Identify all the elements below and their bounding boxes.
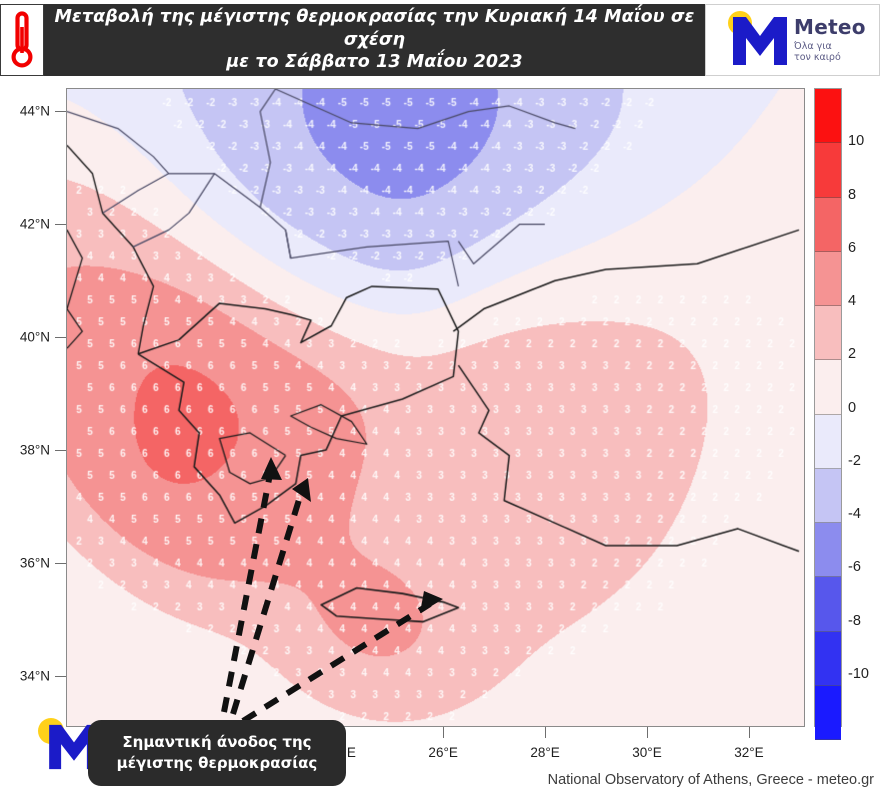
header-title-cell: Μεταβολή της μέγιστης θερμοκρασίας την Κ…: [44, 4, 705, 76]
colorbar-bin: [815, 523, 841, 577]
colorbar-bin: [815, 415, 841, 469]
latitude-tick-label: 34°N: [20, 669, 50, 684]
colorbar[interactable]: [814, 88, 842, 727]
colorbar-tick-label: 8: [848, 187, 856, 203]
meteo-wordmark: Meteo Όλα για τον καιρό: [794, 15, 866, 64]
anomaly-raster: [67, 89, 804, 726]
meteo-tagline-line2: τον καιρό: [794, 53, 866, 64]
longitude-tick-mark: [647, 727, 648, 738]
latitude-tick-mark: [55, 450, 66, 451]
latitude-tick-label: 40°N: [20, 329, 50, 344]
colorbar-bin: [815, 198, 841, 252]
meteo-tagline: Όλα για τον καιρό: [794, 42, 866, 64]
colorbar-bin: [815, 252, 841, 306]
colorbar-tick-label: -2: [848, 453, 861, 469]
latitude-tick-mark: [55, 676, 66, 677]
latitude-tick-label: 44°N: [20, 103, 50, 118]
latitude-tick-label: 36°N: [20, 556, 50, 571]
page-title: Μεταβολή της μέγιστης θερμοκρασίας την Κ…: [54, 6, 695, 73]
colorbar-tick-label: 0: [848, 400, 856, 416]
colorbar-bin: [815, 632, 841, 686]
colorbar-tick-label: 4: [848, 293, 856, 309]
longitude-tick-label: 30°E: [632, 745, 661, 760]
colorbar-tick-label: 10: [848, 133, 864, 149]
colorbar-bin: [815, 89, 841, 143]
longitude-tick-label: 26°E: [428, 745, 457, 760]
colorbar-tick-label: -8: [848, 613, 861, 629]
colorbar-bin: [815, 686, 841, 740]
meteo-name: Meteo: [794, 15, 866, 39]
header-banner: Μεταβολή της μέγιστης θερμοκρασίας την Κ…: [0, 4, 880, 76]
colorbar-bin: [815, 143, 841, 197]
latitude-tick-mark: [55, 111, 66, 112]
annotation-callout-text: Σημαντική άνοδος της μέγιστης θερμοκρασί…: [117, 732, 318, 775]
colorbar-bin: [815, 577, 841, 631]
longitude-tick-label: 32°E: [734, 745, 763, 760]
latitude-tick-label: 38°N: [20, 442, 50, 457]
meteo-m-mark: [732, 16, 788, 66]
latitude-tick-mark: [55, 224, 66, 225]
latitude-tick-label: 42°N: [20, 216, 50, 231]
longitude-tick-mark: [443, 727, 444, 738]
thermometer-icon: [11, 11, 33, 69]
temperature-anomaly-map[interactable]: [66, 88, 805, 727]
longitude-tick-mark: [749, 727, 750, 738]
colorbar-tick-label: -6: [848, 559, 861, 575]
longitude-tick-mark: [545, 727, 546, 738]
annotation-line1: Σημαντική άνοδος της: [117, 732, 318, 753]
annotation-callout: Σημαντική άνοδος της μέγιστης θερμοκρασί…: [88, 720, 346, 786]
annotation-line2: μέγιστης θερμοκρασίας: [117, 753, 318, 774]
page-title-line1: Μεταβολή της μέγιστης θερμοκρασίας την Κ…: [54, 6, 695, 51]
colorbar-bin: [815, 360, 841, 414]
colorbar-tick-label: -4: [848, 506, 861, 522]
colorbar-tick-label: 2: [848, 346, 856, 362]
colorbar-bin: [815, 469, 841, 523]
colorbar-tick-label: 6: [848, 240, 856, 256]
colorbar-bin: [815, 306, 841, 360]
thermometer-icon-cell: [0, 4, 44, 76]
longitude-tick-label: 28°E: [530, 745, 559, 760]
meteo-logo-header[interactable]: Meteo Όλα για τον καιρό: [705, 4, 880, 76]
map-figure: 34°N36°N38°N40°N42°N44°N 20°E22°E24°E26°…: [0, 76, 880, 807]
latitude-tick-mark: [55, 337, 66, 338]
latitude-tick-mark: [55, 563, 66, 564]
page-title-line2: με το Σάββατο 13 Μαΐου 2023: [54, 51, 695, 73]
colorbar-tick-label: -10: [848, 666, 869, 682]
